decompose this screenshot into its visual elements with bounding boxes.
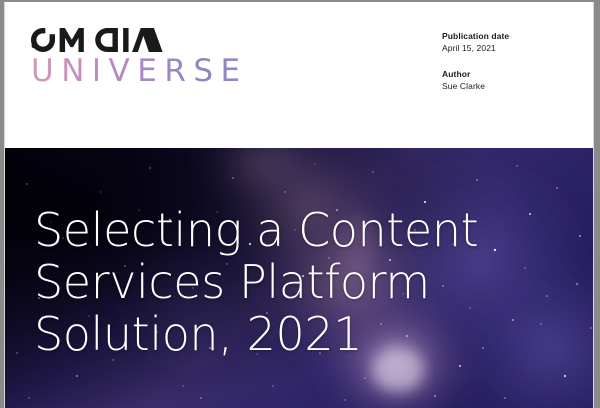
report-cover-page: UNIVERSE Publication date April 15, 2021… [4, 2, 594, 408]
universe-subtitle: UNIVERSE [31, 56, 248, 87]
title-line-1: Selecting a Content [34, 203, 478, 257]
brand-lockup: UNIVERSE [31, 28, 248, 87]
hero-galaxy-banner: Selecting a Content Services Platform So… [5, 148, 593, 408]
title-line-3: Solution, 2021 [34, 307, 362, 361]
author-value: Sue Clarke [442, 80, 582, 92]
author-label: Author [442, 68, 582, 80]
cover-header: UNIVERSE Publication date April 15, 2021… [5, 2, 593, 148]
publication-meta: Publication date April 15, 2021 Author S… [442, 30, 582, 92]
meta-spacer [442, 55, 582, 68]
page-title: Selecting a Content Services Platform So… [34, 204, 478, 360]
title-line-2: Services Platform [34, 255, 430, 309]
publication-date-value: April 15, 2021 [442, 42, 582, 54]
publication-date-label: Publication date [442, 30, 582, 42]
omdia-logo-icon [31, 28, 163, 52]
